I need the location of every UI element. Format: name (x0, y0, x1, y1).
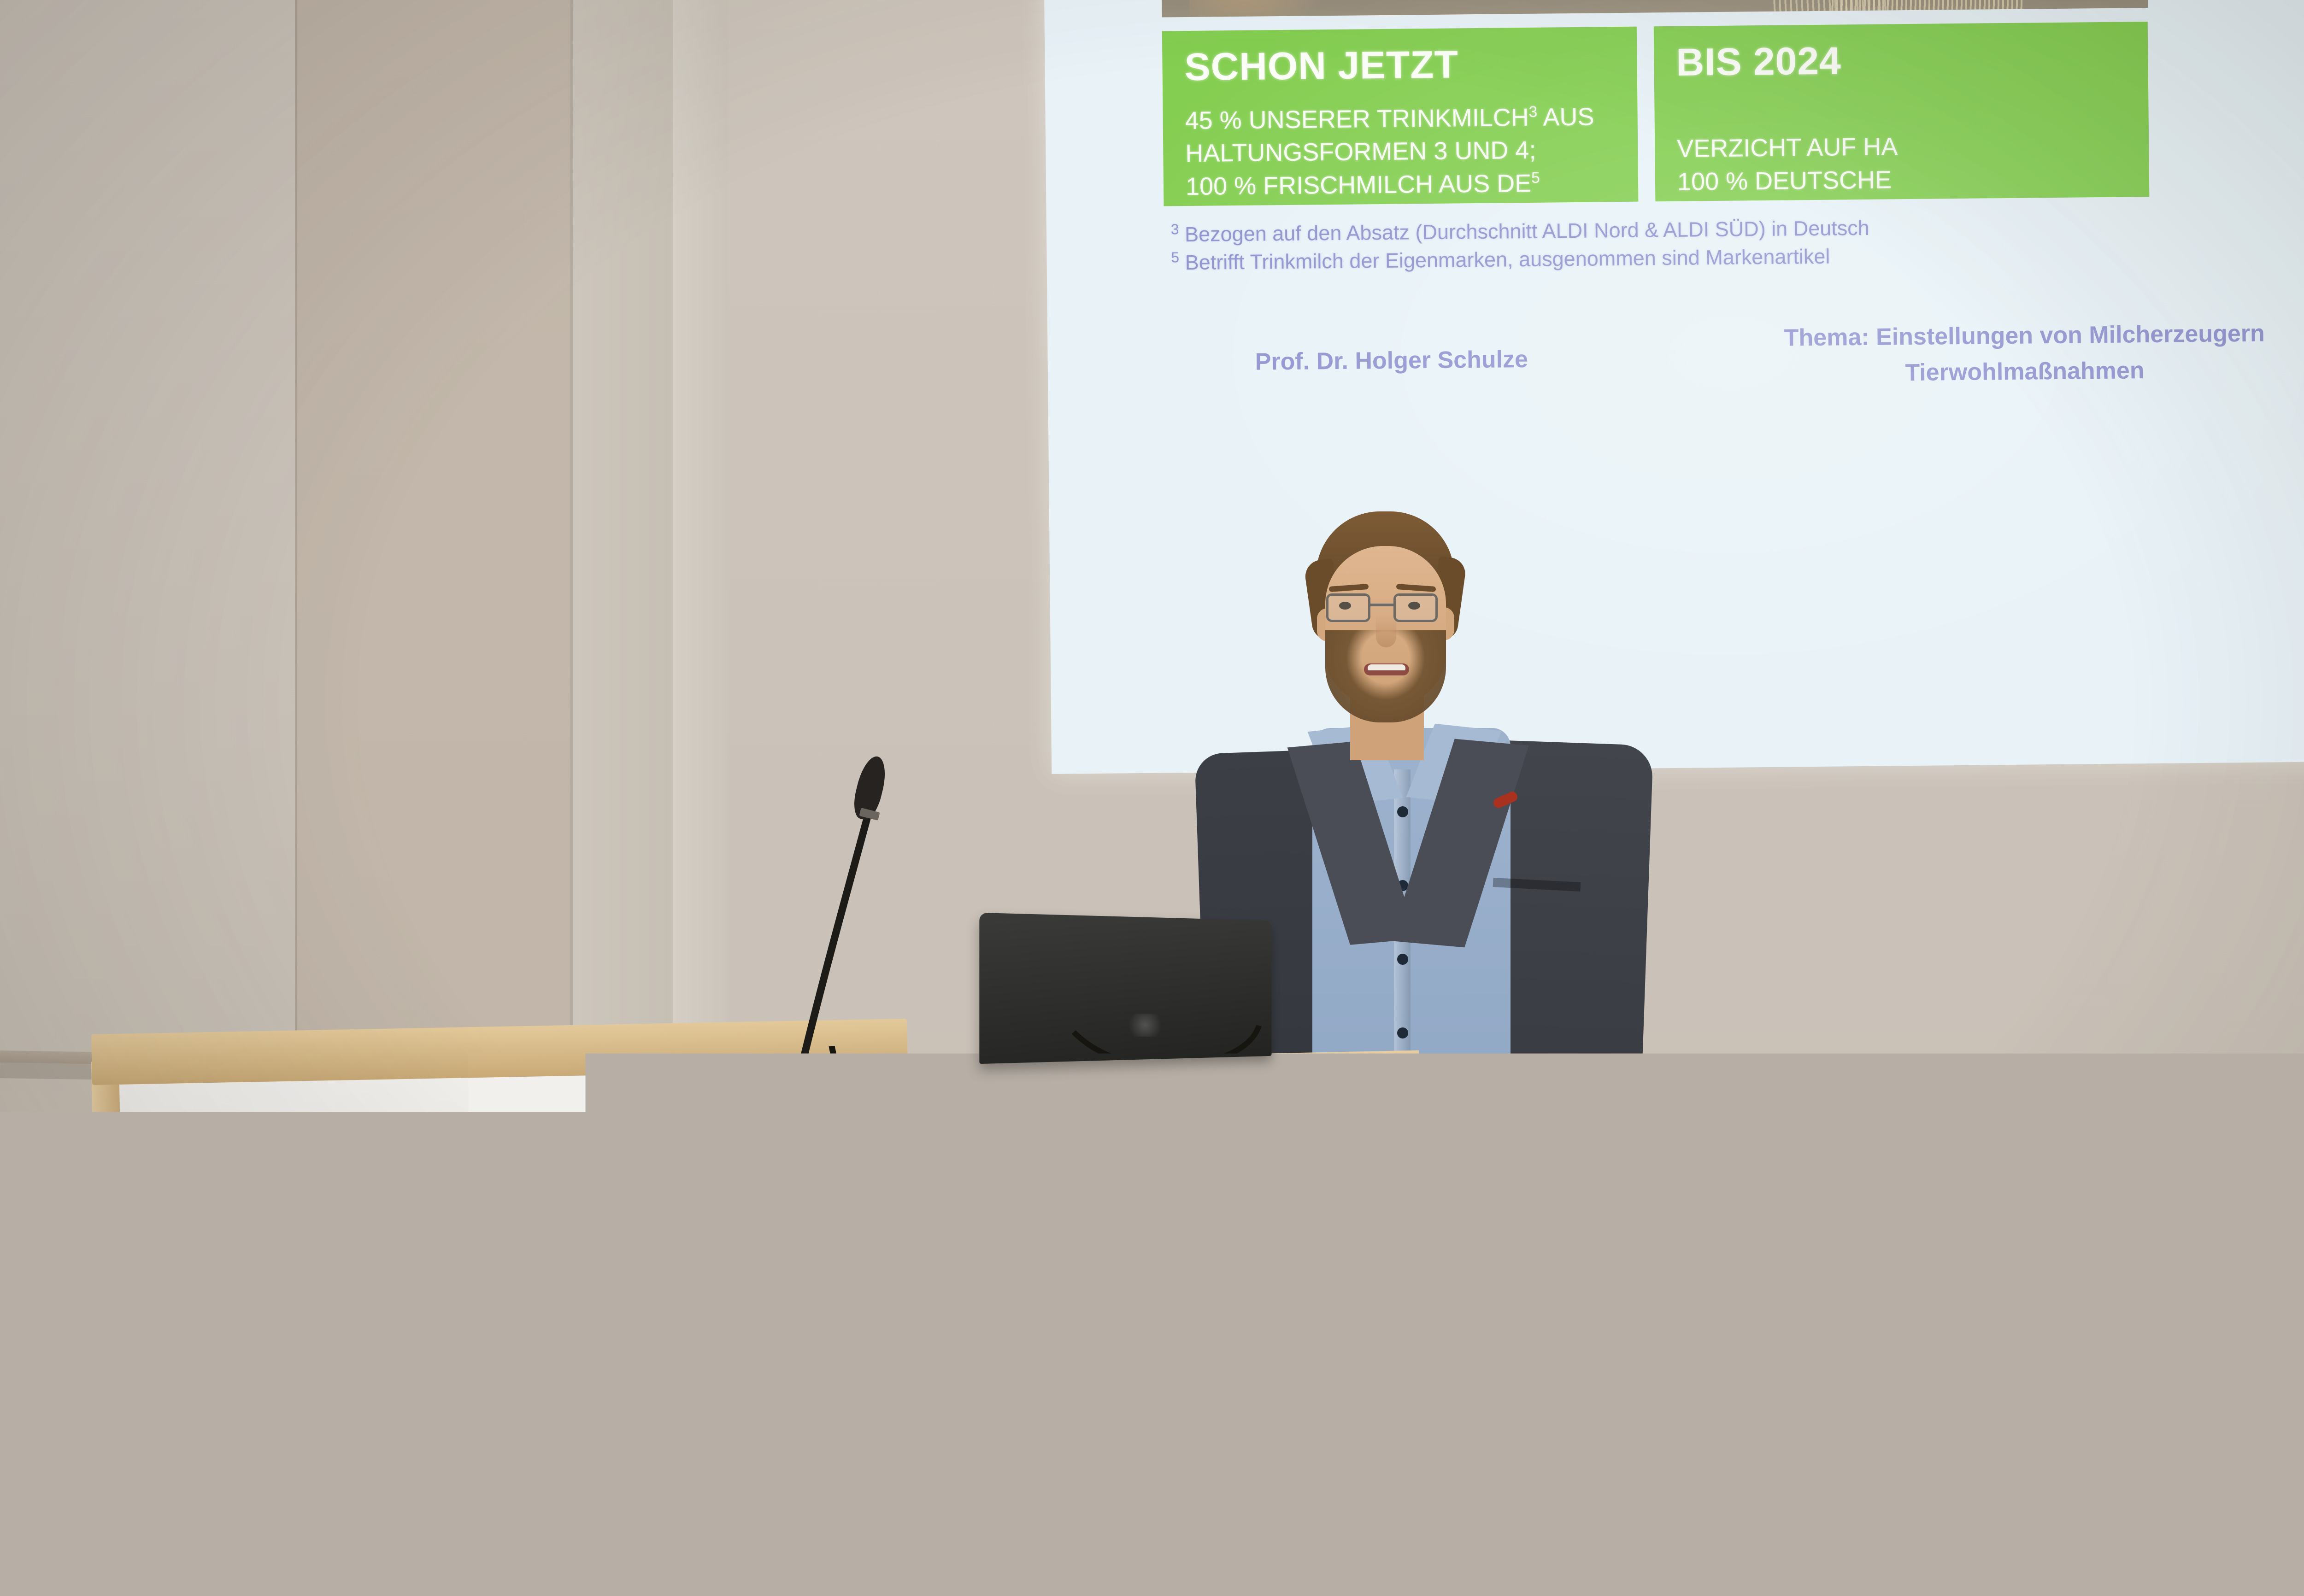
logo-subtitle-1: Hochschule für Angewandte Wissenschaften (253, 1353, 783, 1397)
presenter-laptop[interactable] (986, 917, 1290, 1074)
lecture-hall-scene: SCHON JETZT 45 % UNSERER TRINKMILCH3 AUS… (0, 0, 2304, 1596)
slide-speaker-name: Prof. Dr. Holger Schulze (1255, 346, 1528, 376)
slide-card-schon-jetzt: SCHON JETZT 45 % UNSERER TRINKMILCH3 AUS… (1162, 27, 1639, 206)
card-title: BIS 2024 (1676, 38, 1841, 84)
chair-backrest-left (137, 1503, 517, 1596)
gooseneck-microphone[interactable] (779, 756, 899, 1097)
card-body-line: HALTUNGSFORMEN 3 UND 4; (1185, 133, 1636, 170)
nose (1376, 615, 1396, 647)
photo-grass (1829, 0, 2024, 11)
conference-microphone-puck[interactable] (915, 1424, 1090, 1530)
eyeglasses-lens-right (1393, 593, 1438, 622)
puck-mute-button[interactable] (942, 1479, 975, 1500)
card-body-line: 100 % FRISCHMILCH AUS DE5 (1186, 166, 1637, 203)
shirt-button (1397, 954, 1408, 965)
eyeglasses-bridge (1370, 604, 1393, 606)
card-title: SCHON JETZT (1184, 42, 1458, 89)
shirt-button (1397, 806, 1408, 817)
card-body-line: 45 % UNSERER TRINKMILCH3 AUS (1185, 100, 1636, 138)
eyeglasses-lens-left (1326, 593, 1370, 622)
slide-header-photo (1161, 0, 2148, 18)
card-body-line: 100 % DEUTSCHE (1677, 161, 2147, 199)
logo-text-block: Fachhochschule Kiel Hochschule für Angew… (252, 1283, 784, 1434)
chair-backrest-right (1622, 1562, 1908, 1596)
slide-card-bis-2024: BIS 2024 VERZICHT AUF HA 100 % DEUTSCHE (1654, 22, 2150, 201)
puck-body (915, 1451, 1090, 1530)
eyeglasses-lens (62, 1402, 136, 1473)
card-body: 45 % UNSERER TRINKMILCH3 AUS HALTUNGSFOR… (1185, 100, 1637, 203)
audience-eyeglasses (69, 1401, 184, 1493)
wall-panel-left (0, 0, 295, 1060)
teeth (1368, 664, 1405, 670)
slide-footnotes: 3 Bezogen auf den Absatz (Durchschnitt A… (1171, 208, 2304, 276)
photo-bloom (1189, 0, 1328, 17)
slide-theme: Thema: Einstellungen von Milcherzeugern … (1587, 313, 2304, 393)
card-body-line: VERZICHT AUF HA (1677, 128, 2146, 165)
theme-line: Thema: Einstellungen von Milcherzeugern (1587, 313, 2304, 358)
laptop-cable (1069, 1023, 1263, 1078)
card-body: VERZICHT AUF HA 100 % DEUTSCHE (1676, 95, 2146, 199)
card-body-line (1676, 95, 2146, 133)
shirt-button (1397, 1027, 1408, 1039)
